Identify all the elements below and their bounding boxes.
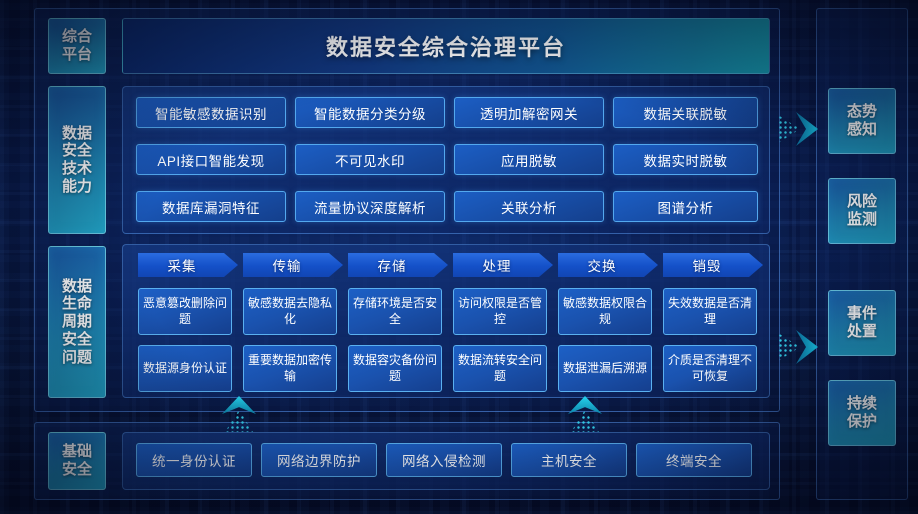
rail-item-label: 风险 监测 (847, 193, 877, 229)
capability-card[interactable]: 应用脱敏 (454, 144, 604, 175)
rail-item-risk-monitoring[interactable]: 风险 监测 (828, 178, 896, 244)
lifecycle-issue-card[interactable]: 失效数据是否清理 (663, 288, 757, 335)
page-title: 数据安全综合治理平台 (122, 18, 770, 74)
capability-card[interactable]: 数据关联脱敏 (613, 97, 758, 128)
capability-card[interactable]: 图谱分析 (613, 191, 758, 222)
basic-security-card[interactable]: 统一身份认证 (136, 443, 252, 477)
rail-item-incident-response[interactable]: 事件 处置 (828, 290, 896, 356)
sidebar-label-platform: 综合 平台 (48, 18, 106, 74)
lifecycle-issue-card[interactable]: 数据容灾备份问题 (348, 345, 442, 392)
lifecycle-label-text: 数据 生命 周期 安全 问题 (62, 278, 92, 366)
lifecycle-issue-card[interactable]: 数据泄漏后溯源 (558, 345, 652, 392)
lifecycle-issue-card[interactable]: 重要数据加密传输 (243, 345, 337, 392)
lifecycle-stage-header-storage[interactable]: 存储 (348, 253, 448, 277)
capability-card[interactable]: 智能数据分类分级 (295, 97, 445, 128)
rail-item-label: 持续 保护 (847, 395, 877, 431)
basic-security-card[interactable]: 网络入侵检测 (386, 443, 502, 477)
capability-card[interactable]: 流量协议深度解析 (295, 191, 445, 222)
lifecycle-issue-card[interactable]: 数据流转安全问题 (453, 345, 547, 392)
lifecycle-issue-card[interactable]: 介质是否清理不可恢复 (663, 345, 757, 392)
rail-item-label: 事件 处置 (847, 305, 877, 341)
rail-item-situation-awareness[interactable]: 态势 感知 (828, 88, 896, 154)
capability-card[interactable]: 数据实时脱敏 (613, 144, 758, 175)
lifecycle-issue-card[interactable]: 恶意篡改删除问题 (138, 288, 232, 335)
lifecycle-issue-card[interactable]: 敏感数据权限合规 (558, 288, 652, 335)
lifecycle-issue-card[interactable]: 数据源身份认证 (138, 345, 232, 392)
diagram-canvas: 综合 平台 数据安全综合治理平台 数据 安全 技术 能力 智能敏感数据识别 智能… (0, 0, 918, 514)
rail-item-continuous-protection[interactable]: 持续 保护 (828, 380, 896, 446)
lifecycle-stage-header-destroy[interactable]: 销毁 (663, 253, 763, 277)
capability-card[interactable]: 数据库漏洞特征 (136, 191, 286, 222)
lifecycle-issue-card[interactable]: 访问权限是否管控 (453, 288, 547, 335)
right-arrow-icon-bottom (778, 330, 818, 364)
capability-card[interactable]: 智能敏感数据识别 (136, 97, 286, 128)
lifecycle-stage-header-process[interactable]: 处理 (453, 253, 553, 277)
lifecycle-stage-header-exchange[interactable]: 交换 (558, 253, 658, 277)
right-arrow-icon-top (778, 112, 818, 146)
capability-card[interactable]: 透明加解密网关 (454, 97, 604, 128)
lifecycle-issue-card[interactable]: 敏感数据去隐私化 (243, 288, 337, 335)
capability-card[interactable]: 关联分析 (454, 191, 604, 222)
sidebar-label-tech-capability: 数据 安全 技术 能力 (48, 86, 106, 234)
basic-security-card[interactable]: 主机安全 (511, 443, 627, 477)
capability-card[interactable]: API接口智能发现 (136, 144, 286, 175)
basic-security-label-text: 基础 安全 (62, 443, 92, 478)
sidebar-label-lifecycle: 数据 生命 周期 安全 问题 (48, 246, 106, 398)
platform-label-text: 综合 平台 (62, 28, 92, 63)
sidebar-label-basic-security: 基础 安全 (48, 432, 106, 490)
basic-security-card[interactable]: 网络边界防护 (261, 443, 377, 477)
basic-security-card[interactable]: 终端安全 (636, 443, 752, 477)
capability-card[interactable]: 不可见水印 (295, 144, 445, 175)
tech-capability-label-text: 数据 安全 技术 能力 (62, 125, 92, 196)
lifecycle-stage-header-transmit[interactable]: 传输 (243, 253, 343, 277)
rail-item-label: 态势 感知 (847, 103, 877, 139)
lifecycle-issue-card[interactable]: 存储环境是否安全 (348, 288, 442, 335)
lifecycle-stage-header-collect[interactable]: 采集 (138, 253, 238, 277)
